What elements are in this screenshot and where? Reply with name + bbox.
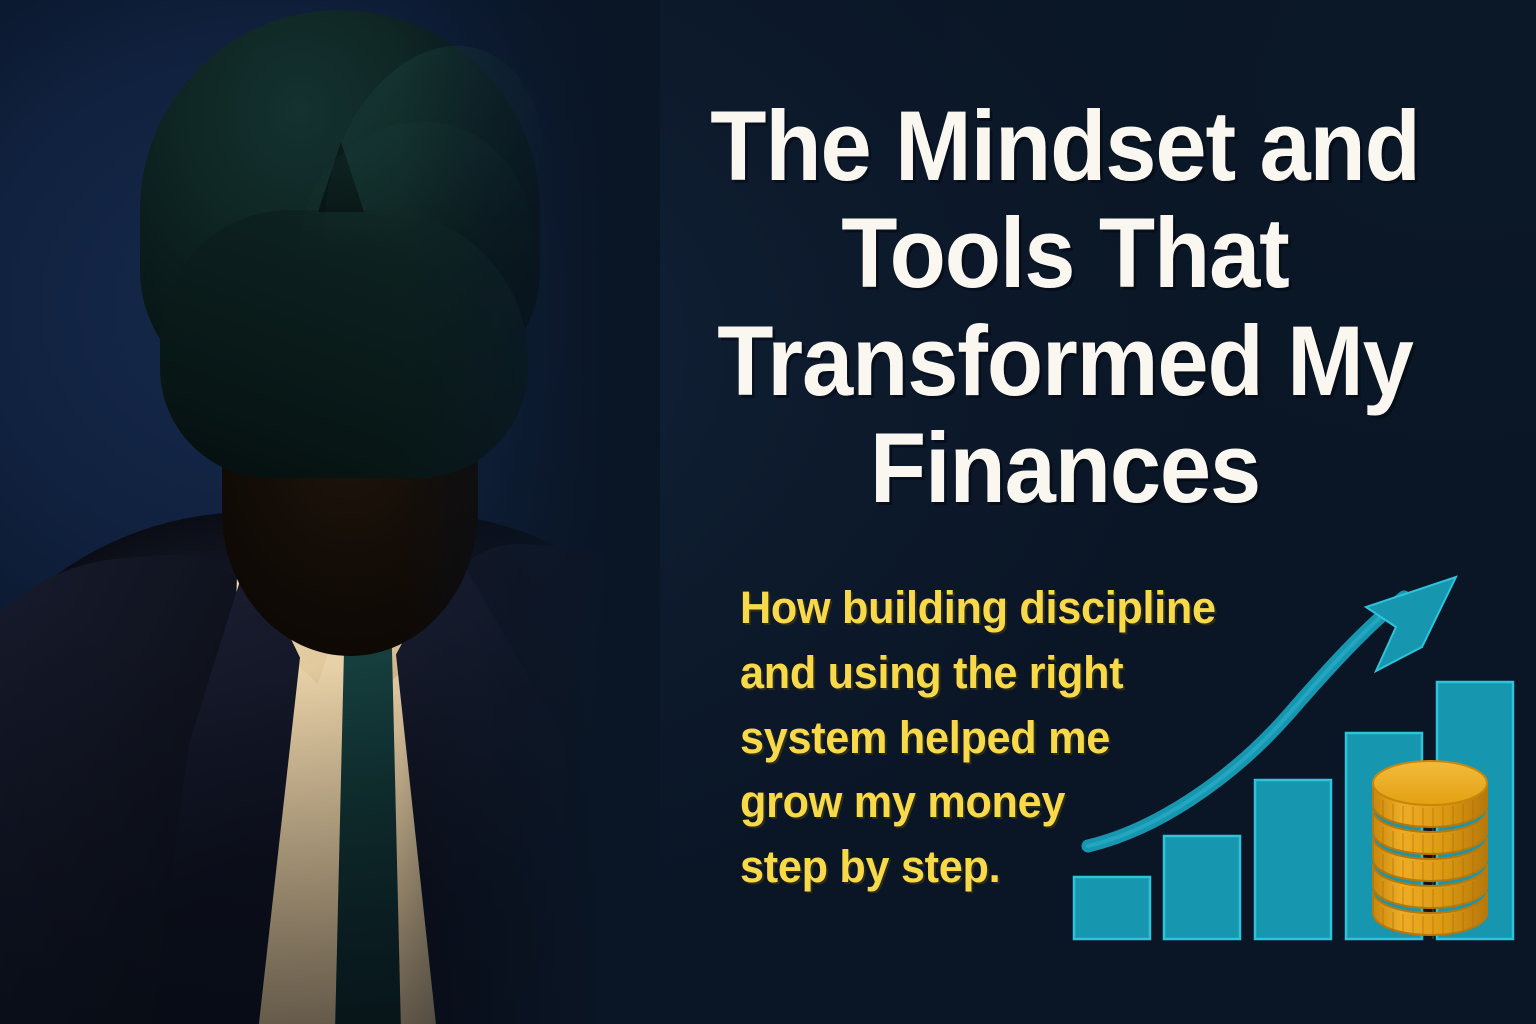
- headline-line-3: Transformed My: [670, 307, 1461, 414]
- coin-top-face: [1373, 761, 1487, 805]
- headline-line-1: The Mindset and: [670, 92, 1461, 199]
- growth-graphic: [1060, 555, 1536, 985]
- page-title: The Mindset and Tools That Transformed M…: [670, 92, 1461, 522]
- headline-line-2: Tools That: [670, 199, 1461, 306]
- portrait-right-fade: [400, 0, 660, 1024]
- bar-2: [1164, 836, 1240, 939]
- bar-1: [1074, 877, 1150, 939]
- headline-line-4: Finances: [670, 414, 1461, 521]
- bar-chart-icon: [1060, 555, 1536, 985]
- bar-3: [1255, 780, 1331, 939]
- portrait-photo: [0, 0, 660, 1024]
- poster-canvas: The Mindset and Tools That Transformed M…: [0, 0, 1536, 1024]
